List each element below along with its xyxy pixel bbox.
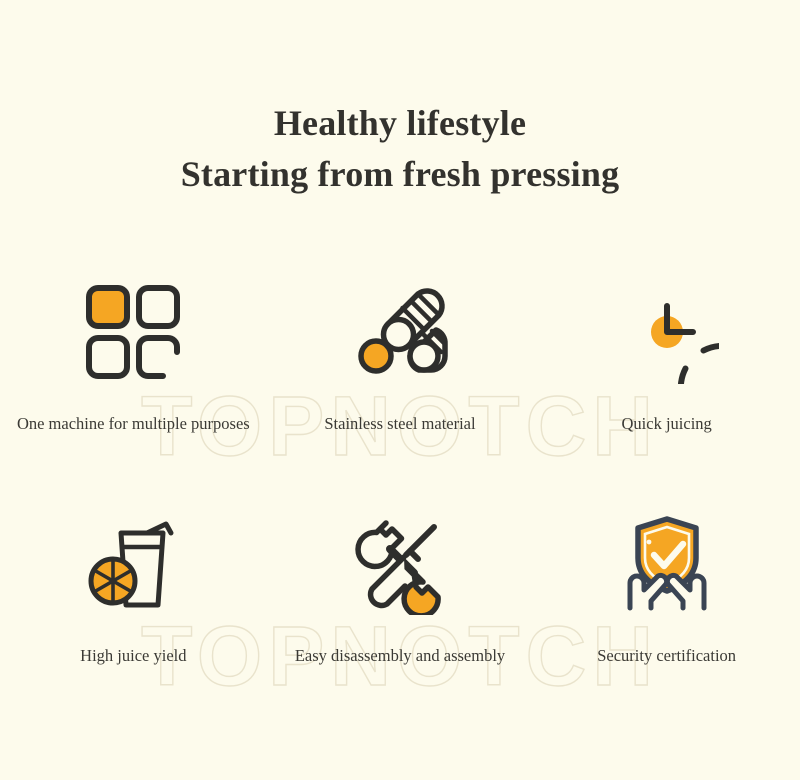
feature-item-quick-juicing: Quick juicing: [533, 272, 800, 500]
wrench-screwdriver-icon: [348, 500, 452, 626]
feature-item-multipurpose: One machine for multiple purposes: [0, 272, 267, 500]
page-title-line-1: Healthy lifestyle: [0, 98, 800, 149]
feature-label-multipurpose: One machine for multiple purposes: [17, 414, 250, 434]
page-title-line-2: Starting from fresh pressing: [0, 149, 800, 200]
feature-item-easy-assembly: Easy disassembly and assembly: [267, 500, 534, 728]
feature-label-security: Security certification: [597, 646, 736, 666]
promo-banner: Healthy lifestyle Starting from fresh pr…: [0, 0, 800, 780]
feature-grid: One machine for multiple purposes: [0, 272, 800, 728]
feature-label-stainless-steel: Stainless steel material: [324, 414, 475, 434]
feature-label-easy-assembly: Easy disassembly and assembly: [295, 646, 505, 666]
feature-item-stainless-steel: Stainless steel material: [267, 272, 534, 500]
clock-icon: [615, 272, 719, 392]
juice-glass-icon: [81, 500, 185, 626]
feature-label-juice-yield: High juice yield: [80, 646, 186, 666]
shield-hands-icon: [615, 500, 719, 626]
feature-item-juice-yield: High juice yield: [0, 500, 267, 728]
feature-label-quick-juicing: Quick juicing: [622, 414, 712, 434]
grid-squares-icon: [81, 272, 185, 392]
feature-item-security: Security certification: [533, 500, 800, 728]
page-title: Healthy lifestyle Starting from fresh pr…: [0, 98, 800, 200]
steel-tubes-icon: [348, 272, 452, 392]
